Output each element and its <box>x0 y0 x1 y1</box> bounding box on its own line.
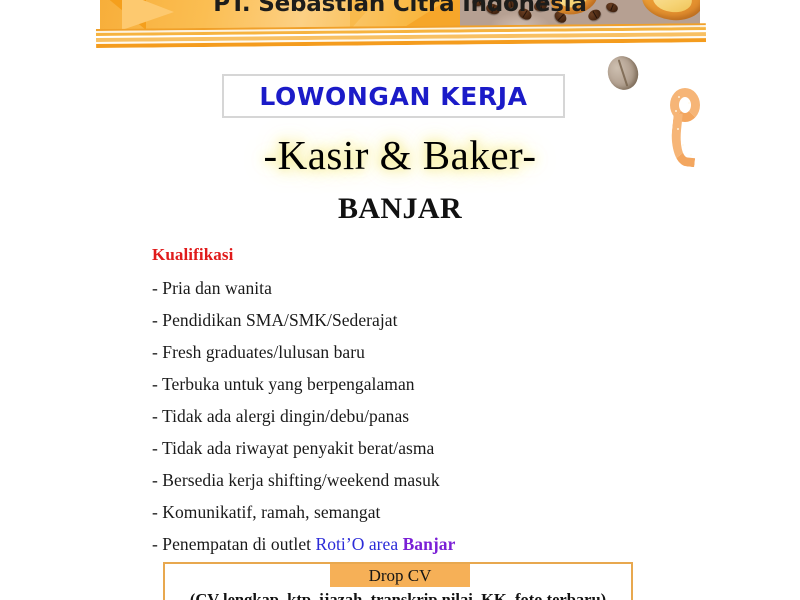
drop-cv-box: Drop CV (CV lengkap, ktp, ijazah, transk… <box>163 562 633 600</box>
bread-tail <box>668 113 699 167</box>
title-glow-highlight <box>259 139 540 171</box>
placement-prefix: - Penempatan di outlet <box>152 534 315 554</box>
placement-brand: Roti’O area <box>315 534 398 554</box>
bread-speck <box>682 144 684 146</box>
company-name: PT. Sebastian Citra Indonesia <box>100 0 700 17</box>
drop-cv-requirements: (CV lengkap, ktp, ijazah, transkrip nila… <box>165 590 631 600</box>
qualification-item: - Komunikatif, ramah, semangat <box>152 496 632 528</box>
qualifications-heading: Kualifikasi <box>152 245 233 265</box>
job-location: BANJAR <box>180 192 620 226</box>
vacancy-title: LOWONGAN KERJA <box>259 82 527 111</box>
bread-twist-decoration-icon <box>664 88 708 166</box>
job-position-wrapper: -Kasir & Baker- <box>180 131 620 179</box>
drop-cv-label: Drop CV <box>330 564 470 587</box>
qualification-item: - Pria dan wanita <box>152 272 632 304</box>
vacancy-title-box: LOWONGAN KERJA <box>222 74 565 118</box>
qualification-item: - Fresh graduates/lulusan baru <box>152 336 632 368</box>
qualification-item: - Terbuka untuk yang berpengalaman <box>152 368 632 400</box>
bread-speck <box>690 154 692 156</box>
bread-speck <box>688 102 690 104</box>
bread-speck <box>678 96 680 98</box>
bread-speck <box>675 110 677 112</box>
job-position-title: -Kasir & Baker- <box>257 131 542 179</box>
qualification-item-placement: - Penempatan di outlet Roti’O area Banja… <box>152 528 632 560</box>
qualification-item: - Bersedia kerja shifting/weekend masuk <box>152 464 632 496</box>
job-posting-poster: PT. Sebastian Citra Indonesia LOWONGAN K… <box>0 0 800 600</box>
qualification-item: - Pendidikan SMA/SMK/Sederajat <box>152 304 632 336</box>
bread-speck <box>677 128 679 130</box>
qualifications-list: - Pria dan wanita - Pendidikan SMA/SMK/S… <box>152 272 632 560</box>
placement-area: Banjar <box>398 534 455 554</box>
qualification-item: - Tidak ada alergi dingin/debu/panas <box>152 400 632 432</box>
qualification-item: - Tidak ada riwayat penyakit berat/asma <box>152 432 632 464</box>
coffee-bean-decoration-icon <box>603 52 642 94</box>
